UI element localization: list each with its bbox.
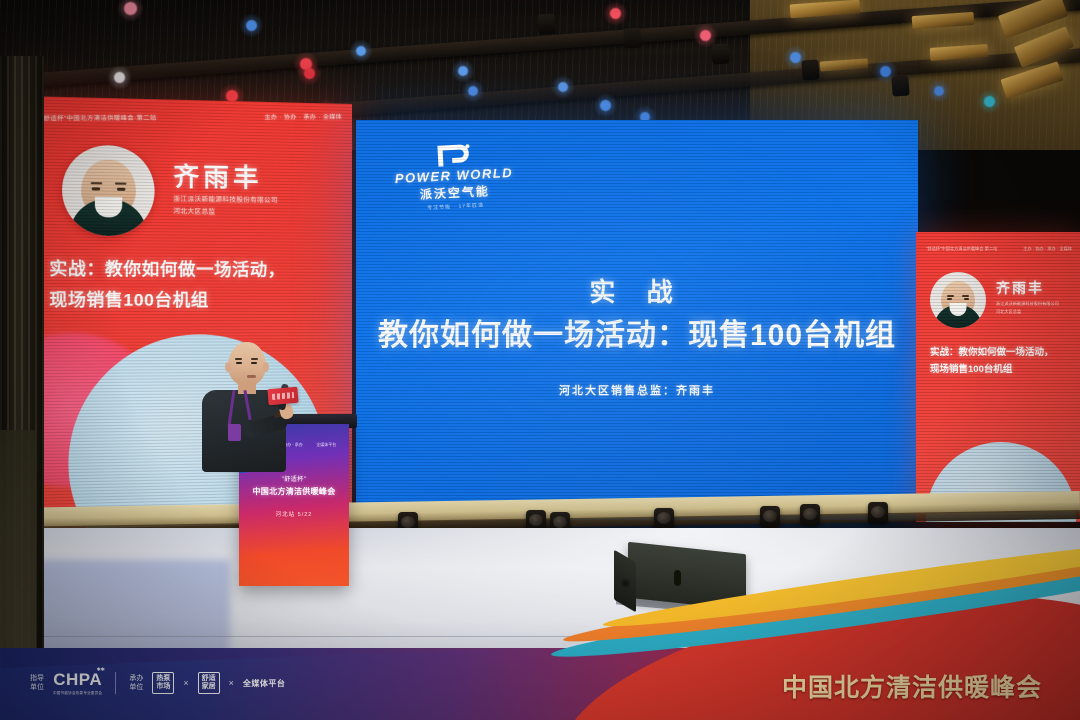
stage-light-white xyxy=(114,72,125,83)
microphone-flag xyxy=(267,387,298,406)
host-unit-label: 承办 单位 xyxy=(129,674,143,692)
guide-unit-label-line1: 指导 xyxy=(30,674,44,683)
host-unit-label-line2: 单位 xyxy=(129,683,143,692)
chpa-logo: CHPA ∗∗ 中国节能协会热泵专业委员会 xyxy=(53,670,102,696)
moving-head-light xyxy=(654,508,674,530)
moving-head-light xyxy=(868,502,888,524)
chpa-wordmark: CHPA xyxy=(53,670,102,689)
guide-unit-label-line2: 单位 xyxy=(30,683,44,692)
stage-light-blue xyxy=(356,46,366,56)
moving-head-fixture xyxy=(623,27,641,48)
monitor-port-icon xyxy=(620,578,631,589)
summit-title: 中国北方清洁供暖峰会 xyxy=(782,668,1042,704)
moving-head-light xyxy=(800,504,820,526)
speaker-mouth xyxy=(247,375,256,378)
podium-strip-right: 全媒体平台 xyxy=(316,442,336,448)
moving-head-fixture xyxy=(537,13,555,34)
sponsor-divider xyxy=(115,672,116,694)
speaker-head xyxy=(228,342,266,386)
podium-date: 河北站 5/22 xyxy=(239,510,349,518)
stage-light-blue xyxy=(246,20,257,31)
chpa-full-name: 中国节能协会热泵专业委员会 xyxy=(53,691,102,696)
stage-light-blue xyxy=(790,52,801,63)
stage-photo: "舒适杯"中国北方清洁供暖峰会·第二站 主办 · 协办 · 承办 · 全媒体 齐… xyxy=(0,0,1080,720)
speaker-eye-left xyxy=(236,362,242,364)
speaker-brow-right xyxy=(251,358,258,360)
stage-light-blue xyxy=(600,100,611,111)
comfort-home-line1: 舒适 xyxy=(202,675,216,683)
podium-quote: "舒适杯" xyxy=(239,474,349,483)
led-screen-right: "舒适杯"中国北方清洁供暖峰会·第二站 主办 · 协办 · 承办 · 全媒体 齐… xyxy=(916,232,1080,522)
heatpump-market-line1: 热泵 xyxy=(156,675,170,683)
stage-light-pink xyxy=(124,2,137,15)
speaker-eye-right xyxy=(251,362,257,364)
comfort-home-logo: 舒适 家居 xyxy=(198,672,220,694)
speaker-neck xyxy=(238,382,256,394)
speaker-badge xyxy=(228,424,241,441)
sponsor-row: 指导 单位 CHPA ∗∗ 中国节能协会热泵专业委员会 承办 单位 热泵 市场 … xyxy=(30,670,285,696)
monitor-handle-icon xyxy=(674,570,681,586)
chpa-stars-icon: ∗∗ xyxy=(96,666,104,673)
stage-light-cyan xyxy=(984,96,995,107)
x-separator-icon: × xyxy=(183,678,188,688)
host-unit-label-line1: 承办 xyxy=(129,674,143,683)
stage-wall-left xyxy=(0,430,36,660)
stage-light-blue xyxy=(880,66,891,77)
speaker-person xyxy=(196,342,292,472)
stage-light-blue xyxy=(934,86,944,96)
speaker-brow-left xyxy=(235,358,242,360)
speaker-ear-right xyxy=(263,362,269,372)
guide-unit-label: 指导 单位 xyxy=(30,674,44,692)
moving-head-fixture xyxy=(801,59,819,80)
heatpump-market-line2: 市场 xyxy=(156,683,170,691)
stage-light-blue xyxy=(458,66,468,76)
stage-light-blue xyxy=(558,82,568,92)
stage-light-red xyxy=(304,68,315,79)
moving-head-fixture xyxy=(711,43,729,64)
stage-light-pink xyxy=(700,30,711,41)
x-separator-icon: × xyxy=(229,678,234,688)
led-scanline-overlay xyxy=(356,120,918,520)
media-platform-label: 全媒体平台 xyxy=(243,678,286,689)
stage-light-red xyxy=(610,8,621,19)
led-scanline-overlay xyxy=(916,232,1080,522)
moving-head-fixture xyxy=(891,75,909,96)
moving-head-light xyxy=(760,506,780,528)
podium-title: 中国北方清洁供暖峰会 xyxy=(239,486,349,497)
comfort-home-line2: 家居 xyxy=(202,683,216,691)
led-screen-center: POWER WORLD 派沃空气能 专注节能 · 17年匠造 实 战 教你如何做… xyxy=(356,120,918,520)
stage-light-blue xyxy=(468,86,478,96)
heatpump-market-logo: 热泵 市场 xyxy=(152,672,174,694)
speaker-ear-left xyxy=(225,362,231,372)
